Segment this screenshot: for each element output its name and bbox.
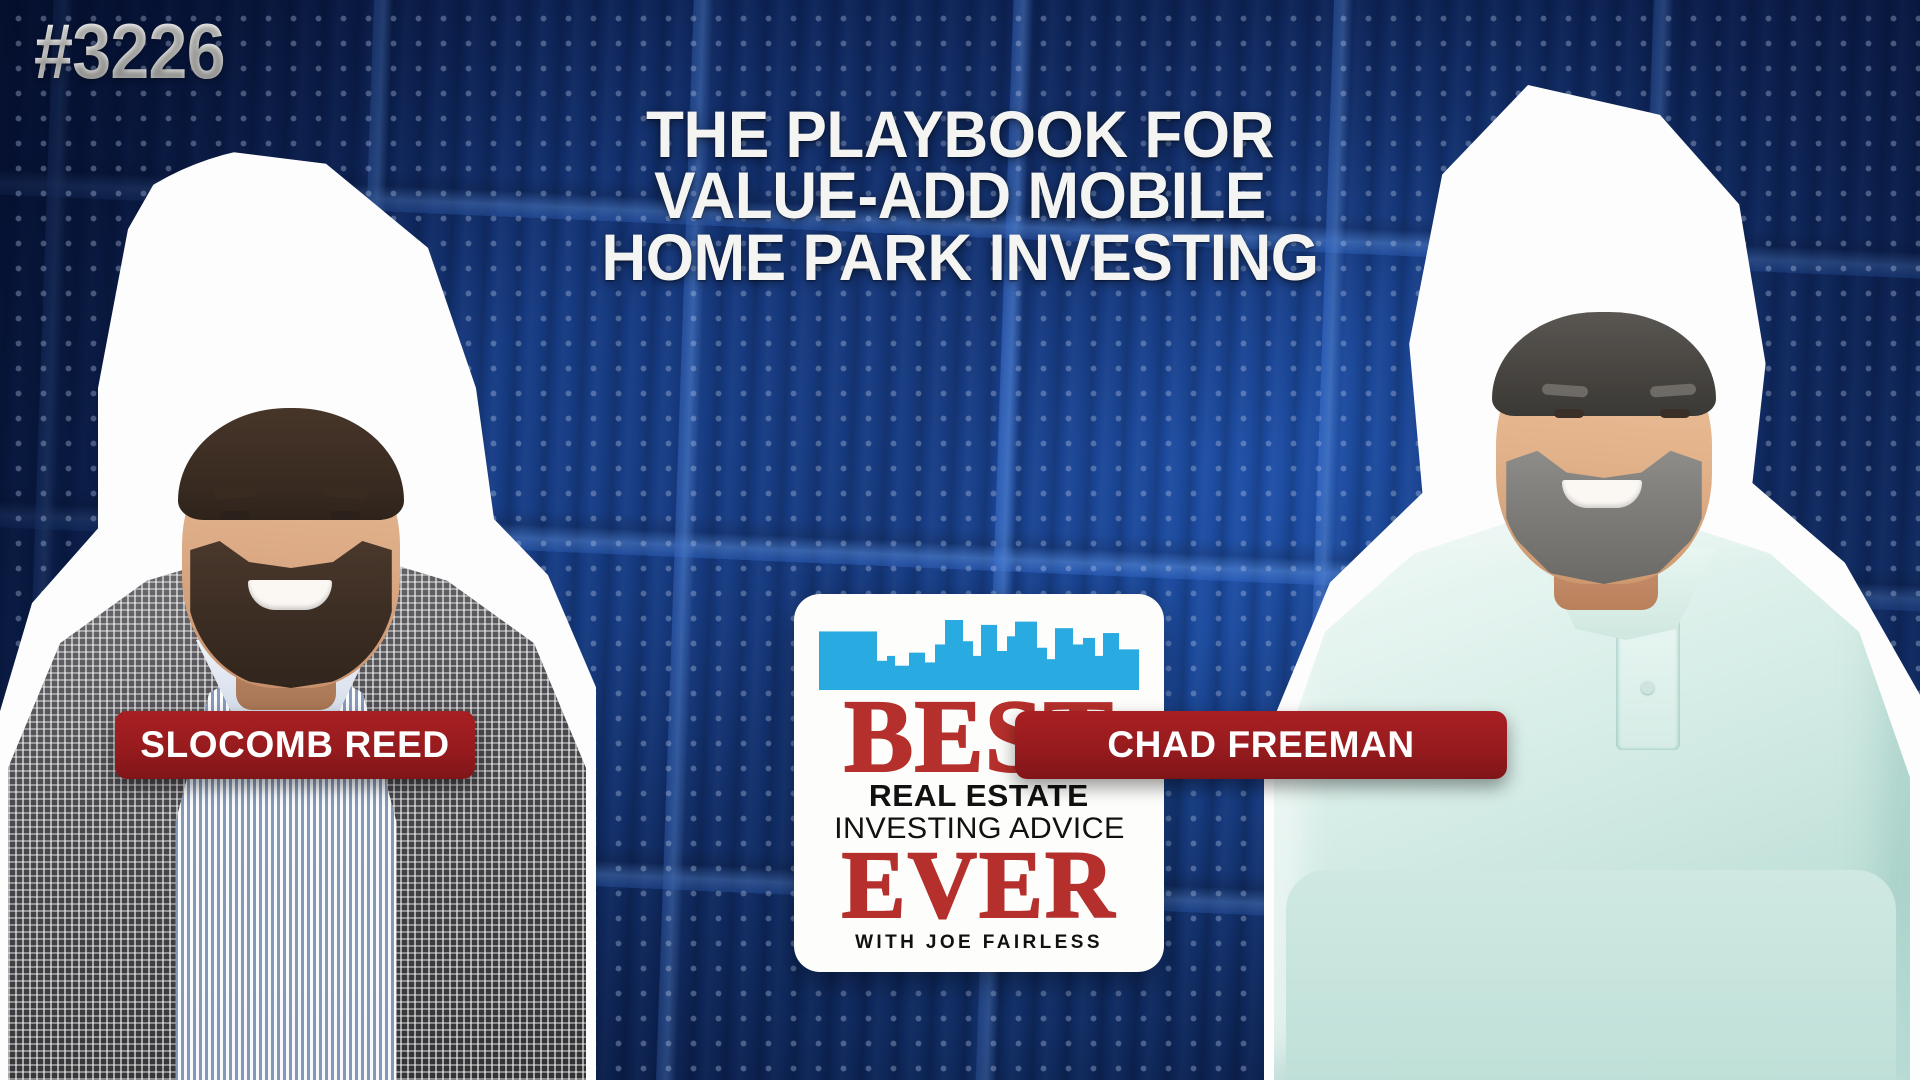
guest-right-eye-right (1660, 409, 1690, 418)
episode-number: #3226 (34, 6, 225, 97)
guest-name-banner-left: SLOCOMB REED (115, 711, 475, 779)
guest-left-eye-left (220, 511, 250, 520)
logo-word-real-estate: REAL ESTATE (869, 778, 1089, 814)
guest-photo-left (0, 140, 606, 1080)
guest-left-smile (248, 580, 332, 610)
guest-right-eye-left (1554, 409, 1584, 418)
guest-right-shirt-button-bottom (1641, 681, 1654, 694)
podcast-episode-thumbnail: #3226 THE PLAYBOOK FOR VALUE-ADD MOBILE … (0, 0, 1920, 1080)
logo-word-investing-advice: INVESTING ADVICE (834, 812, 1125, 846)
guest-right-crossed-arms (1286, 870, 1896, 1080)
logo-word-ever: EVER (842, 842, 1117, 928)
guest-photo-right (1250, 80, 1920, 1080)
guest-right-smile (1562, 480, 1642, 508)
guest-name-banner-right: CHAD FREEMAN (1015, 711, 1507, 779)
guest-left-eye-right (330, 511, 360, 520)
logo-host-credit: WITH JOE FAIRLESS (855, 932, 1103, 954)
podcast-logo-card: BEST REAL ESTATE INVESTING ADVICE EVER W… (794, 594, 1164, 972)
